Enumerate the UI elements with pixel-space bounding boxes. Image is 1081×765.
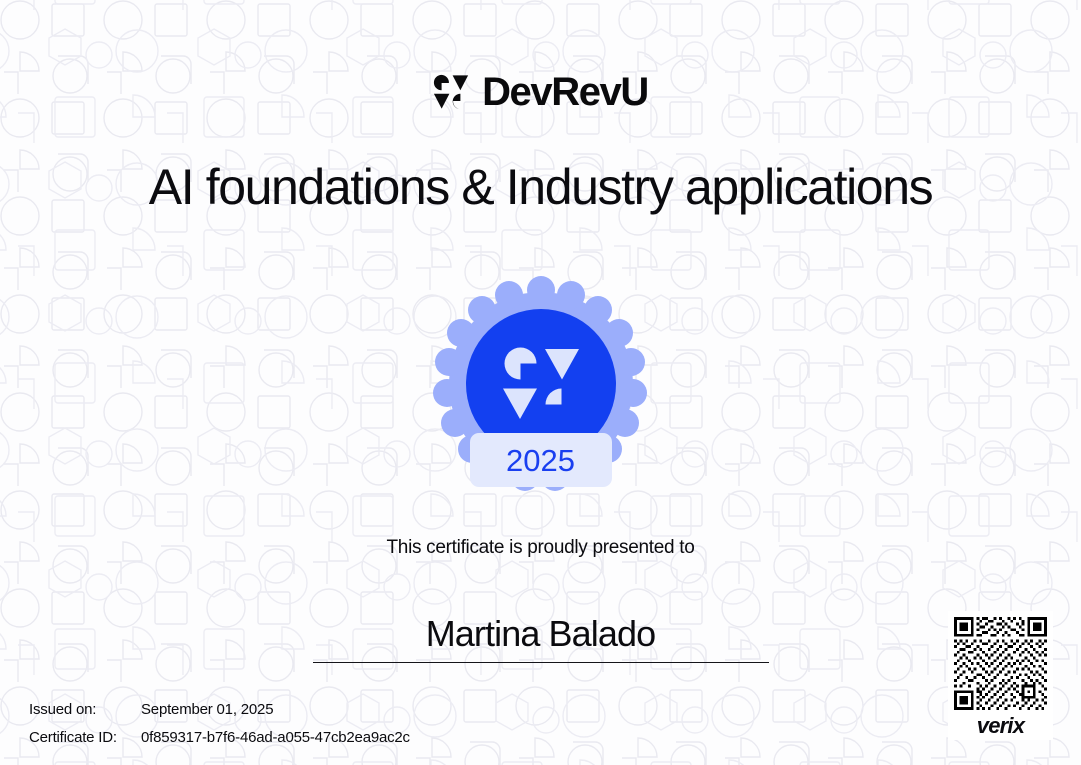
achievement-badge: 2025 — [433, 276, 649, 492]
certificate-document: DevRevU AI foundations & Industry applic… — [0, 0, 1081, 765]
recipient-underline — [313, 662, 769, 663]
brand-name: DevRevU — [482, 72, 648, 112]
presentation-line: This certificate is proudly presented to — [0, 537, 1081, 559]
qr-code-icon[interactable] — [954, 617, 1047, 710]
verification-panel[interactable]: verix — [948, 611, 1053, 740]
certificate-metadata: Issued on: September 01, 2025 Certificat… — [29, 702, 410, 745]
recipient-name: Martina Balado — [313, 612, 769, 656]
issued-on-row: Issued on: September 01, 2025 — [29, 702, 410, 717]
verix-brand-label: verix — [977, 714, 1024, 738]
badge-year-label: 2025 — [506, 445, 575, 476]
issued-on-label: Issued on: — [29, 702, 141, 717]
devrev-logo-icon — [433, 74, 469, 110]
certificate-id-value: 0f859317-b7f6-46ad-a055-47cb2ea9ac2c — [141, 730, 410, 745]
badge-year-ribbon: 2025 — [470, 433, 612, 487]
issued-on-value: September 01, 2025 — [141, 702, 273, 717]
recipient-block: Martina Balado — [313, 612, 769, 663]
brand-header: DevRevU — [0, 72, 1081, 112]
certificate-id-label: Certificate ID: — [29, 730, 141, 745]
course-title: AI foundations & Industry applications — [0, 157, 1081, 217]
certificate-id-row: Certificate ID: 0f859317-b7f6-46ad-a055-… — [29, 730, 410, 745]
